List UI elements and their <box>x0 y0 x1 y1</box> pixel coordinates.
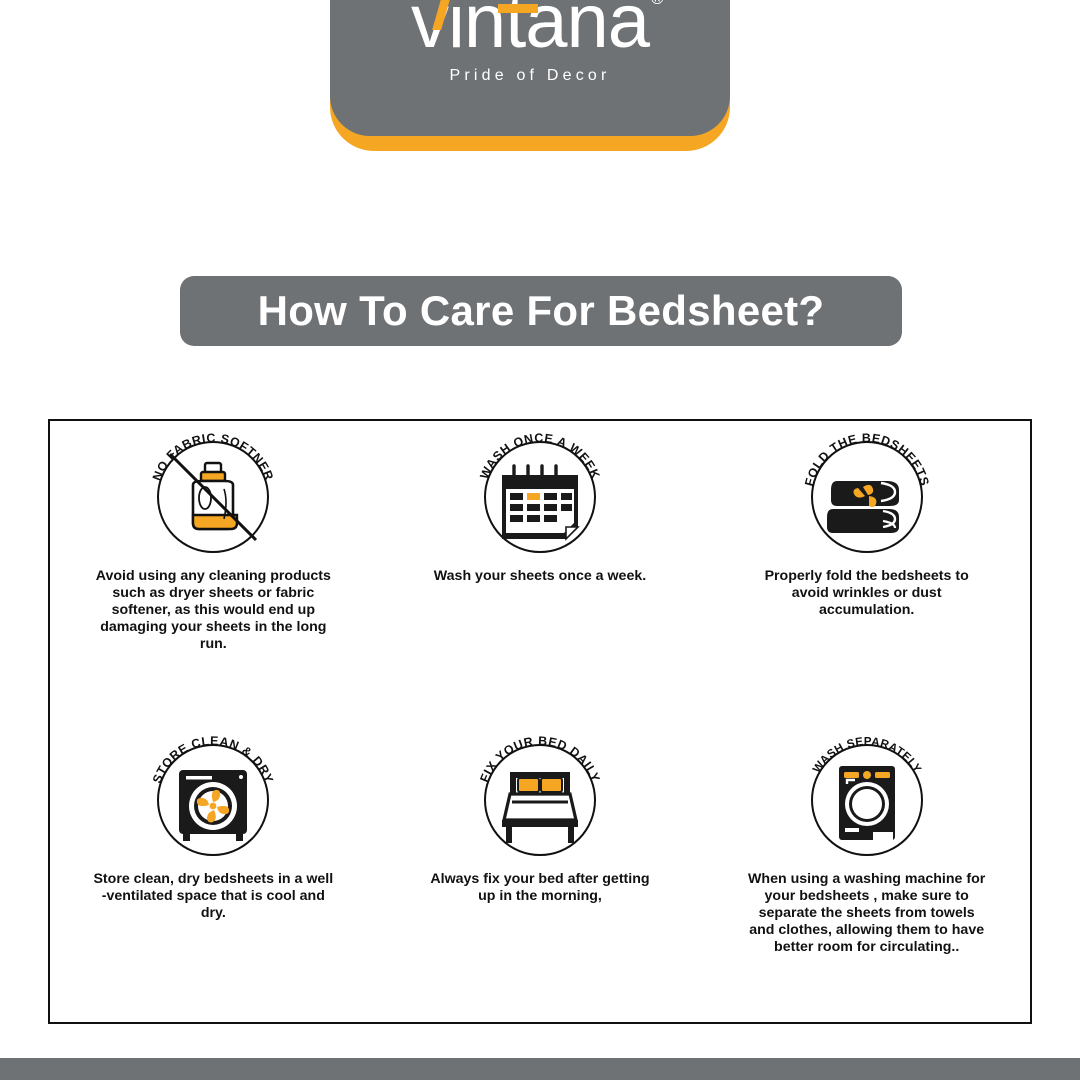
icon-badge: FOLD THE BEDSHEETS <box>805 435 929 559</box>
brand-wordmark: vintana® <box>330 0 730 60</box>
care-card-store-clean-and-dry: STORE CLEAN & DRY <box>50 722 377 1023</box>
folded-bedsheets-icon <box>811 441 923 553</box>
card-caption: When using a washing machine for your be… <box>747 871 987 956</box>
brand-logo: vintana® Pride of Decor <box>330 0 730 154</box>
card-caption: Properly fold the bedsheets to avoid wri… <box>747 568 987 619</box>
brand-tagline: Pride of Decor <box>330 67 730 85</box>
card-caption: Avoid using any cleaning products such a… <box>93 568 333 653</box>
infographic-page: vintana® Pride of Decor How To Care For … <box>0 0 1080 1080</box>
brand-letters-ana: ana <box>525 0 649 64</box>
bed-icon <box>484 744 596 856</box>
card-caption: Wash your sheets once a week. <box>434 568 646 585</box>
card-caption: Store clean, dry bedsheets in a well -ve… <box>93 871 333 922</box>
icon-badge: WASH ONCE A WEEK <box>478 435 602 559</box>
t-crossbar-accent <box>498 4 538 13</box>
icon-badge: WASH SEPARATELY <box>805 738 929 862</box>
footer-bar <box>0 1058 1080 1080</box>
page-title: How To Care For Bedsheet? <box>258 287 825 335</box>
care-instructions-frame: NO FABRIC SOFTNER Avoid using any <box>48 419 1032 1024</box>
care-card-no-fabric-softener: NO FABRIC SOFTNER Avoid using any <box>50 421 377 722</box>
calendar-icon <box>484 441 596 553</box>
icon-badge: STORE CLEAN & DRY <box>151 738 275 862</box>
care-card-fold-the-bedsheets: FOLD THE BEDSHEETS <box>703 421 1030 722</box>
washing-machine-icon <box>811 744 923 856</box>
care-card-fix-your-bed-daily: FIX YOUR BED DAILY <box>377 722 704 1023</box>
no-fabric-softener-icon <box>157 441 269 553</box>
care-card-wash-separately: WASH SEPARATELY <box>703 722 1030 1023</box>
icon-badge: FIX YOUR BED DAILY <box>478 738 602 862</box>
card-caption: Always fix your bed after getting up in … <box>420 871 660 905</box>
care-card-wash-once-a-week: WASH ONCE A WEEK <box>377 421 704 722</box>
care-instructions-grid: NO FABRIC SOFTNER Avoid using any <box>50 421 1030 1022</box>
icon-badge: NO FABRIC SOFTNER <box>151 435 275 559</box>
dryer-icon <box>157 744 269 856</box>
page-title-banner: How To Care For Bedsheet? <box>180 276 902 346</box>
registered-trademark-icon: ® <box>651 0 663 7</box>
brand-letters-in: in <box>448 0 505 64</box>
